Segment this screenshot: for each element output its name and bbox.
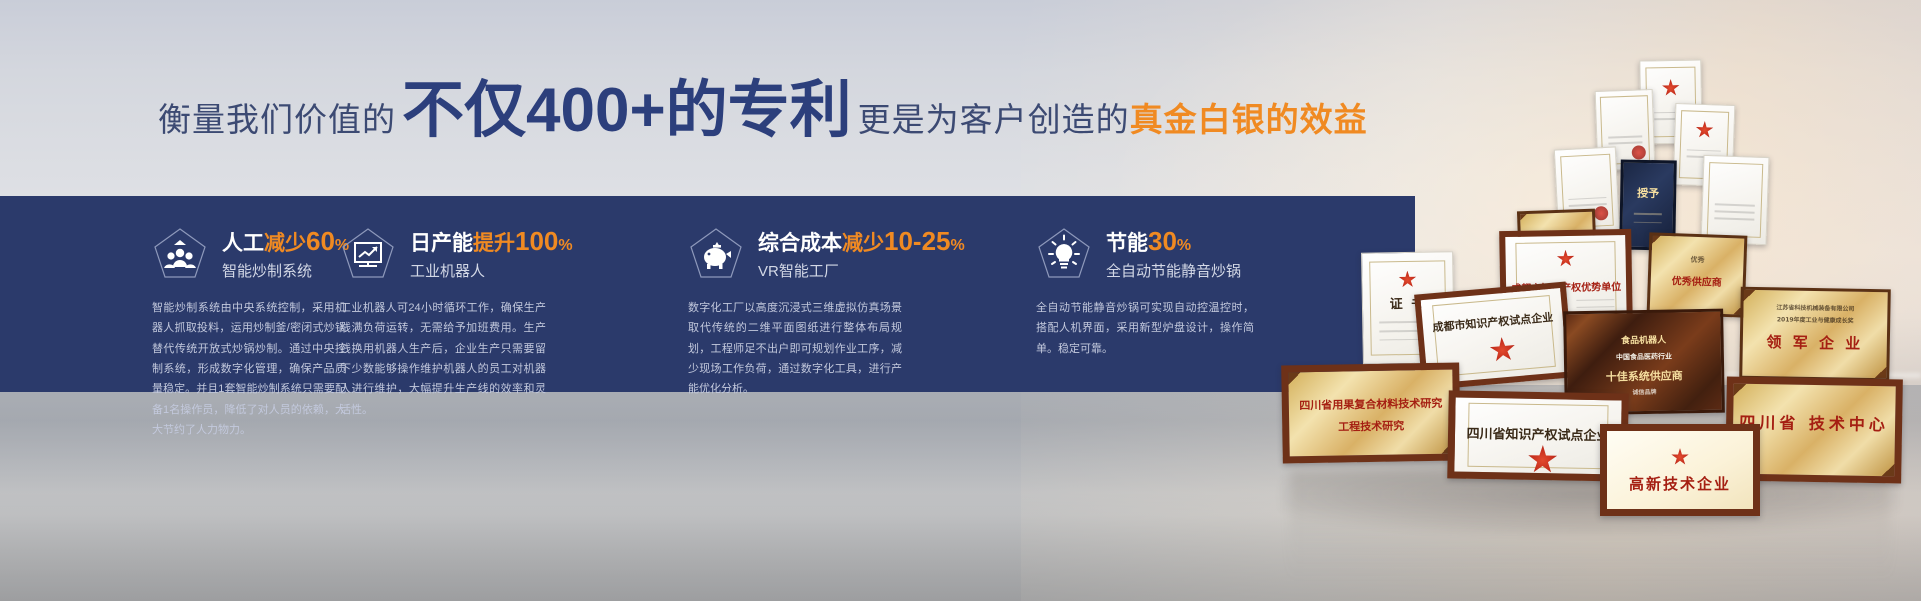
certificate-item: 四川省用果复合材料技术研究 工程技术研究 — [1281, 362, 1461, 463]
feature-subtitle: 工业机器人 — [410, 260, 573, 281]
certificate-item — [1700, 155, 1769, 245]
certificate-item: 高新技术企业 — [1600, 424, 1760, 516]
certificate-floor-reflection — [1290, 470, 1890, 580]
feature-stat: 日产能提升100% — [410, 227, 573, 257]
banner-root: 衡量我们价值的 不仅400+的专利 更是为客户创造的 真金白银的效益 — [0, 0, 1921, 601]
lightbulb-icon — [1036, 226, 1092, 282]
stat-unit: % — [558, 237, 572, 254]
certificate-title: 优秀供应商 — [1651, 272, 1743, 290]
stat-highlight: 减少 — [842, 232, 884, 255]
stat-highlight: 提升 — [473, 232, 515, 255]
feature-body: 数字化工厂以高度沉浸式三维虚拟仿真场景取代传统的二维平面图纸进行整体布局规划，工… — [688, 298, 902, 400]
headline-prefix: 衡量我们价值的 — [158, 93, 396, 141]
certificate-title: 授予 — [1623, 184, 1673, 201]
people-group-icon — [152, 226, 208, 282]
stat-number: 30 — [1148, 226, 1177, 256]
certificate-title: 成都市知识产权试点企业 — [1422, 308, 1563, 336]
certificate-title: 四川省用果复合材料技术研究 — [1289, 395, 1453, 414]
stat-number: 10-25 — [884, 226, 951, 256]
certificate-title: 高新技术企业 — [1607, 473, 1753, 494]
certificate-item: 优秀供应商 优秀 — [1647, 232, 1748, 317]
headline-middle: 更是为客户创造的 — [858, 93, 1130, 141]
certificate-title — [1557, 181, 1617, 184]
certificate-title — [1703, 189, 1767, 191]
certificate-item: 江苏省科技机械装备有限公司 2019年度工业与健康成长奖 领 军 企 业 — [1739, 287, 1891, 382]
stat-prefix: 人工 — [222, 232, 264, 255]
stat-number: 100 — [515, 226, 558, 256]
feature-item-capacity: 日产能提升100% 工业机器人 工业机器人可24小时循环工作，确保生产线满负荷运… — [300, 196, 652, 392]
stat-unit: % — [1177, 237, 1191, 254]
feature-body: 工业机器人可24小时循环工作，确保生产线满负荷运转，无需给予加班费用。生产线换用… — [340, 298, 546, 420]
stat-prefix: 节能 — [1106, 232, 1148, 255]
feature-item-labor: 人工减少60% 智能炒制系统 智能炒制系统由中央系统控制，采用机器人抓取投料，运… — [0, 196, 300, 392]
certificate-title — [1675, 138, 1733, 140]
certificate-title: 领 军 企 业 — [1743, 331, 1887, 355]
stat-prefix: 日产能 — [410, 232, 473, 255]
headline: 衡量我们价值的 不仅400+的专利 更是为客户创造的 真金白银的效益 — [158, 80, 1368, 142]
feature-item-cost: 综合成本减少10-25% VR智能工厂 数字化工厂以高度沉浸式三维虚拟仿真场景取… — [652, 196, 1002, 392]
certificate-wall: 授予 荣誉证书 证 书 成都市知识产权优势单位 优秀供应商 — [1200, 52, 1921, 482]
certificate-title: 四川省知识产权试点企业 — [1455, 423, 1621, 445]
stat-prefix: 综合成本 — [758, 232, 842, 255]
certificate-title — [1597, 121, 1653, 123]
piggy-bank-icon — [688, 226, 744, 282]
chart-monitor-icon — [340, 226, 396, 282]
stat-unit: % — [951, 237, 965, 254]
certificate-title: 十佳系统供应商 — [1567, 367, 1721, 386]
headline-emphasis: 不仅400+的专利 — [402, 80, 852, 142]
feature-subtitle: VR智能工厂 — [758, 260, 965, 281]
feature-stat: 综合成本减少10-25% — [758, 227, 965, 257]
